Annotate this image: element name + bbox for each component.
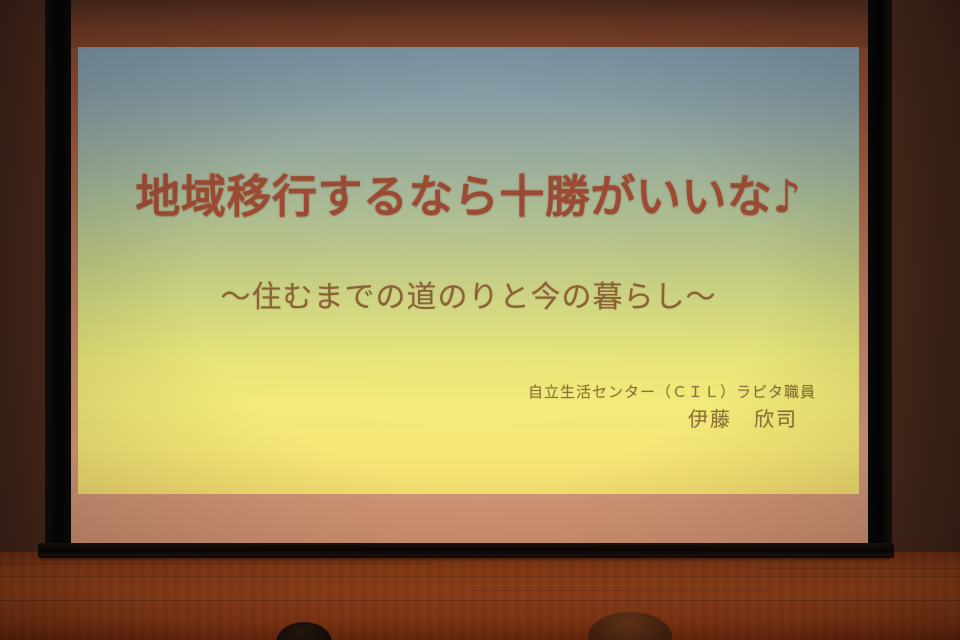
screen-bottom-shadow [40,556,890,562]
presentation-room-photo: 地域移行するなら十勝がいいな♪ 〜住むまでの道のりと今の暮らし〜 自立生活センタ… [0,0,960,640]
floor-plank-seam [0,563,430,564]
wall-right-shadow [880,0,960,552]
credit-organization: 自立生活センター（ＣＩＬ）ラピタ職員 [296,382,816,404]
floor-plank-seam [470,590,770,591]
wooden-floor [0,552,960,640]
floor-plank-seam [0,576,960,577]
projected-slide: 地域移行するなら十勝がいいな♪ 〜住むまでの道のりと今の暮らし〜 自立生活センタ… [78,47,859,494]
floor-plank-seam [760,568,960,569]
slide-title: 地域移行するなら十勝がいいな♪ [78,160,859,225]
screen-right-frame-bar [868,0,892,558]
credit-presenter-name: 伊藤 欣司 [296,404,816,434]
screen-left-frame-bar [45,0,71,556]
floor-plank-seam [0,600,960,601]
slide-subtitle: 〜住むまでの道のりと今の暮らし〜 [78,272,859,316]
slide-credit-block: 自立生活センター（ＣＩＬ）ラピタ職員 伊藤 欣司 [296,382,816,434]
projection-screen-top-margin [69,0,870,48]
